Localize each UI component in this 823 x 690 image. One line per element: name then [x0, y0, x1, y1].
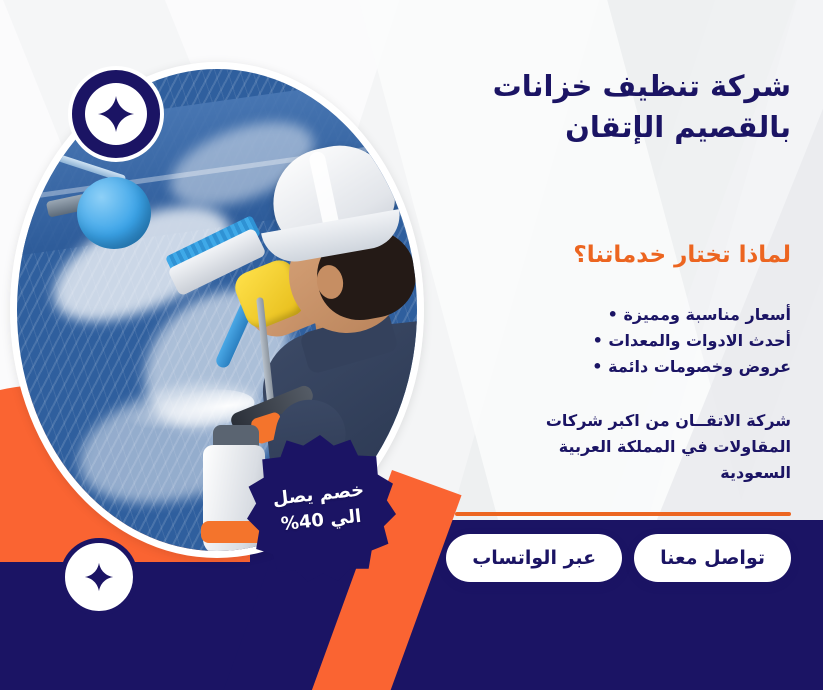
four-point-sparkle-icon	[84, 562, 114, 592]
orange-divider	[455, 512, 791, 516]
list-item: أحدث الادوات والمعدات •	[391, 328, 791, 354]
company-description: شركة الاتقــان من اكبر شركات المقاولات ف…	[501, 408, 791, 486]
bullet-marker-icon: •	[608, 302, 618, 328]
bullet-label: عروض وخصومات دائمة	[608, 357, 791, 376]
discount-badge: خصم يصل الي 40%	[244, 432, 396, 584]
blue-float-ball	[77, 177, 151, 249]
logo-disc	[76, 554, 122, 600]
discount-badge-text: خصم يصل الي 40%	[272, 477, 369, 538]
four-point-sparkle-icon	[97, 95, 135, 133]
contact-us-button[interactable]: تواصل معنا	[634, 534, 791, 582]
advertisement-banner: خصم يصل الي 40% شركة تنظيف خزانات بالقصي…	[0, 0, 823, 690]
brand-logo-bottom	[60, 538, 138, 616]
whatsapp-button[interactable]: عبر الواتساب	[446, 534, 622, 582]
section-subheading: لماذا تختار خدماتنا؟	[573, 242, 791, 268]
list-item: عروض وخصومات دائمة •	[391, 354, 791, 380]
bullet-marker-icon: •	[593, 328, 603, 354]
brand-logo-top	[68, 66, 164, 162]
list-item: أسعار مناسبة ومميزة •	[391, 302, 791, 328]
bullet-label: أحدث الادوات والمعدات	[608, 331, 791, 350]
cta-button-group: تواصل معنا عبر الواتساب	[391, 534, 791, 582]
bullet-marker-icon: •	[592, 354, 602, 380]
benefits-list: أسعار مناسبة ومميزة • أحدث الادوات والمع…	[391, 302, 791, 380]
page-title: شركة تنظيف خزانات بالقصيم الإتقان	[391, 66, 791, 148]
bullet-label: أسعار مناسبة ومميزة	[623, 305, 791, 324]
content-panel: شركة تنظيف خزانات بالقصيم الإتقان لماذا …	[391, 66, 791, 148]
logo-disc	[85, 83, 147, 145]
